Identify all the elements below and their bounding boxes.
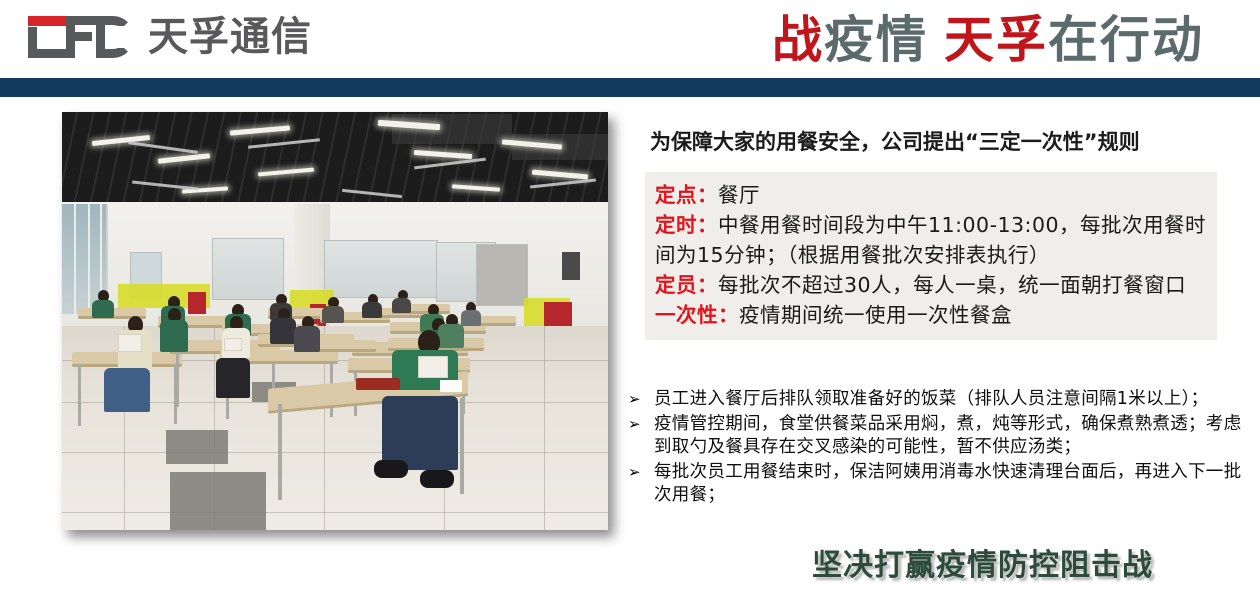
rule-value-3: 每批次不超过30人，每人一桌，统一面朝打餐窗口 [718, 273, 1186, 297]
title-part-2: 疫情 [824, 10, 928, 69]
bullet-list: ➢ 员工进入餐厅后排队领取准备好的饭菜（排队人员注意间隔1米以上）； ➢ 疫情管… [628, 388, 1244, 509]
logo-company-name: 天孚通信 [148, 14, 312, 60]
photo-floor-accent [166, 430, 228, 464]
bullet-text-2: 疫情管控期间，食堂供餐菜品采用焖，煮，炖等形式，确保煮熟煮透；考虑到取勺及餐具存… [654, 413, 1244, 459]
photo-red-chair [188, 292, 206, 314]
rule-line-2: 定时：中餐用餐时间段为中午11:00-13:00，每批次用餐时间为15分钟；（根… [655, 210, 1211, 270]
rule-key-1: 定点： [655, 183, 718, 207]
lead-statement: 为保障大家的用餐安全，公司提出“三定一次性”规则 [650, 126, 1235, 156]
photo-front-diner-shoe [420, 470, 454, 488]
photo-meal-tray [356, 378, 400, 390]
arrow-bullet-icon: ➢ [628, 388, 654, 411]
cafeteria-photo [62, 112, 608, 530]
bullet-text-1: 员工进入餐厅后排队领取准备好的饭菜（排队人员注意间隔1米以上）； [654, 388, 1244, 411]
title-part-1: 战 [772, 10, 824, 69]
photo-diner-body [160, 320, 188, 352]
rule-value-4: 疫情期间统一使用一次性餐盒 [739, 303, 1012, 327]
arrow-bullet-icon: ➢ [628, 461, 654, 484]
photo-floor-accent [170, 472, 266, 530]
photo-glass-door [212, 238, 284, 300]
photo-front-diner-shoe [374, 460, 408, 478]
rule-value-2: 中餐用餐时间段为中午11:00-13:00，每批次用餐时间为15分钟；（根据用餐… [655, 213, 1206, 267]
rule-key-4: 一次性： [655, 303, 739, 327]
photo-diner-body [362, 302, 382, 318]
logo-red-bar [28, 16, 70, 26]
rule-line-1: 定点：餐厅 [655, 180, 1211, 210]
header-divider [0, 78, 1260, 97]
photo-diner-body [461, 310, 481, 326]
photo-diner-legs [104, 368, 150, 412]
photo-diner-body [294, 326, 320, 352]
list-item: ➢ 疫情管控期间，食堂供餐菜品采用焖，煮，炖等形式，确保煮熟煮透；考虑到取勺及餐… [628, 413, 1244, 459]
photo-door [476, 244, 528, 306]
rule-key-3: 定员： [655, 273, 718, 297]
photo-diner-body [438, 324, 464, 348]
photo-front-diner-legs [382, 396, 458, 470]
photo-lunch-box [118, 334, 142, 352]
photo-glass-door [324, 240, 438, 298]
rule-line-3: 定员：每批次不超过30人，每人一桌，统一面朝打餐窗口 [655, 270, 1211, 300]
cafeteria-photo-image [62, 112, 608, 530]
cfc-logo-icon [26, 14, 134, 60]
list-item: ➢ 每批次员工用餐结束时，保洁阿姨用消毒水快速清理台面后，再进入下一批次用餐； [628, 461, 1244, 507]
photo-diner-legs [216, 358, 250, 398]
company-logo: 天孚通信 [26, 8, 312, 66]
rules-box: 定点：餐厅 定时：中餐用餐时间段为中午11:00-13:00，每批次用餐时间为1… [645, 172, 1217, 340]
rule-key-2: 定时： [655, 213, 718, 237]
logo-letter-c-left [28, 27, 70, 58]
photo-diner-body [322, 306, 344, 323]
slide-root: 天孚通信 战疫情天孚在行动 [0, 0, 1260, 608]
photo-red-chairs [544, 302, 572, 328]
logo-letter-c-right-cut [114, 26, 136, 48]
list-item: ➢ 员工进入餐厅后排队领取准备好的饭菜（排队人员注意间隔1米以上）； [628, 388, 1244, 411]
photo-lunch-box [418, 356, 448, 378]
rule-line-4: 一次性：疫情期间统一使用一次性餐盒 [655, 300, 1211, 330]
arrow-bullet-icon: ➢ [628, 413, 654, 436]
photo-lunch-box [224, 338, 242, 351]
slide-header: 天孚通信 战疫情天孚在行动 [0, 0, 1260, 78]
rule-value-1: 餐厅 [718, 183, 760, 207]
footer-slogan: 坚决打赢疫情防控阻击战 [812, 540, 1153, 584]
photo-wall-screen [562, 252, 580, 280]
photo-diner-body [392, 298, 411, 313]
logo-letter-f-crossbar [66, 32, 92, 41]
title-part-3: 天孚 [944, 10, 1048, 69]
photo-napkin [440, 380, 462, 392]
bullet-text-3: 每批次员工用餐结束时，保洁阿姨用消毒水快速清理台面后，再进入下一批次用餐； [654, 461, 1244, 507]
photo-ceiling-panel [392, 114, 512, 144]
page-title: 战疫情天孚在行动 [772, 6, 1204, 74]
title-part-4: 在行动 [1048, 10, 1204, 69]
photo-diner-body [92, 300, 114, 318]
photo-diner-body [270, 318, 296, 344]
